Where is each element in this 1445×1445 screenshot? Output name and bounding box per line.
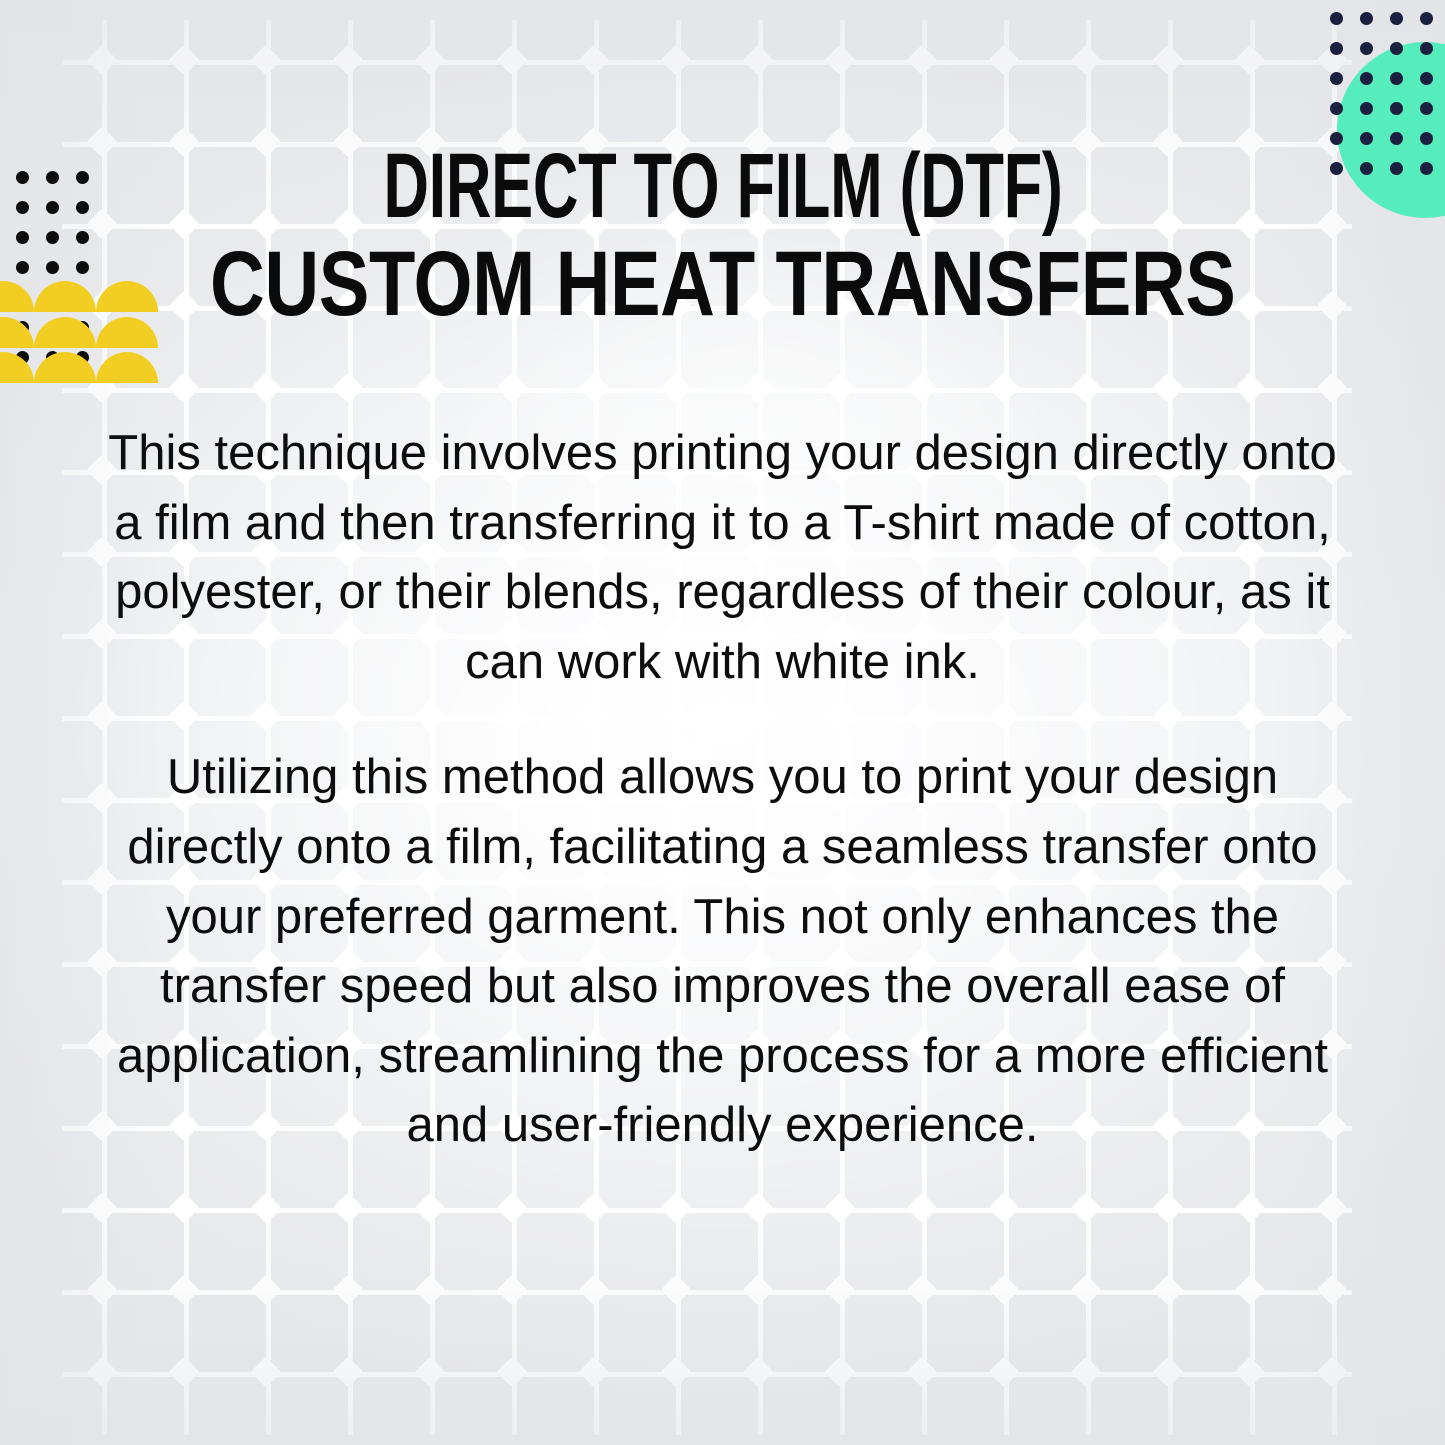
poster-canvas: DIRECT TO FILM (DTF) CUSTOM HEAT TRANSFE… [0, 0, 1445, 1445]
poster-content: DIRECT TO FILM (DTF) CUSTOM HEAT TRANSFE… [0, 0, 1445, 1161]
paragraph-1: This technique involves printing your de… [98, 419, 1347, 697]
headline-line-1: DIRECT TO FILM (DTF) [383, 138, 1062, 236]
body-copy: This technique involves printing your de… [0, 333, 1445, 1161]
page-title: DIRECT TO FILM (DTF) CUSTOM HEAT TRANSFE… [0, 0, 1445, 333]
paragraph-2: Utilizing this method allows you to prin… [98, 743, 1347, 1160]
headline-line-2: CUSTOM HEAT TRANSFERS [210, 236, 1235, 334]
